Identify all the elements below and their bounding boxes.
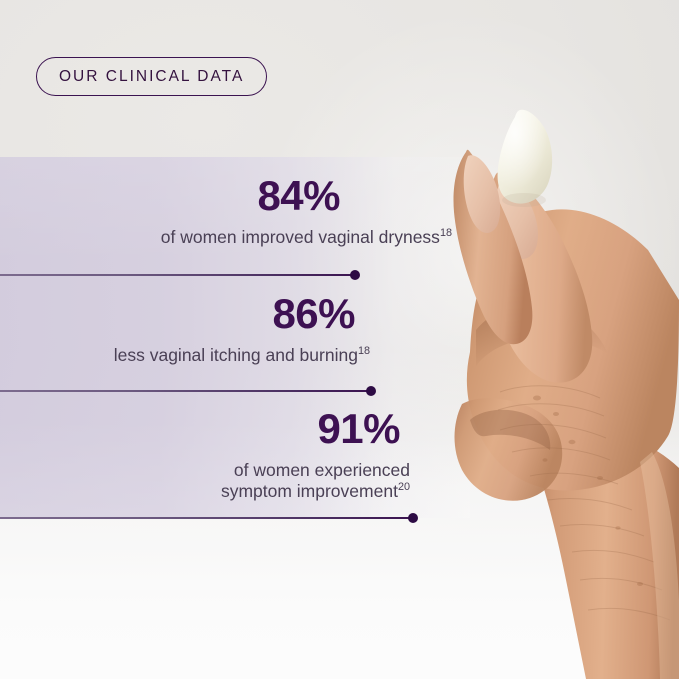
stat-label: of women improved vaginal dryness18	[0, 227, 470, 248]
stat-endpoint-dot	[408, 513, 418, 523]
stat-label: of women experiencedsymptom improvement2…	[0, 460, 470, 503]
stat-label-text: of women improved vaginal dryness	[161, 227, 440, 247]
stat-text-block: 91% of women experiencedsymptom improvem…	[0, 408, 470, 503]
stat-text-block: 86% less vaginal itching and burning18	[0, 293, 470, 366]
stat-value: 86%	[0, 293, 470, 335]
stat-citation: 18	[358, 345, 370, 357]
stat-label-text: less vaginal itching and burning	[114, 345, 358, 365]
stat-separator-line	[0, 274, 356, 276]
stat-separator-line	[0, 517, 414, 519]
stat-value: 84%	[0, 175, 470, 217]
stat-endpoint-dot	[366, 386, 376, 396]
stat-separator-line	[0, 390, 372, 392]
stat-text-block: 84% of women improved vaginal dryness18	[0, 175, 470, 248]
stat-citation: 18	[440, 227, 452, 239]
stat-endpoint-dot	[350, 270, 360, 280]
stat-value: 91%	[0, 408, 470, 450]
stat-label: less vaginal itching and burning18	[0, 345, 470, 366]
stat-label-line-2: symptom improvement	[221, 481, 398, 501]
stat-citation: 20	[398, 482, 410, 494]
stat-label-line-1: of women experienced	[234, 460, 410, 480]
clinical-data-badge-label: OUR CLINICAL DATA	[59, 68, 244, 86]
clinical-data-badge: OUR CLINICAL DATA	[36, 57, 267, 96]
product-marketing-scene: OUR CLINICAL DATA 84% of women improved …	[0, 0, 679, 679]
